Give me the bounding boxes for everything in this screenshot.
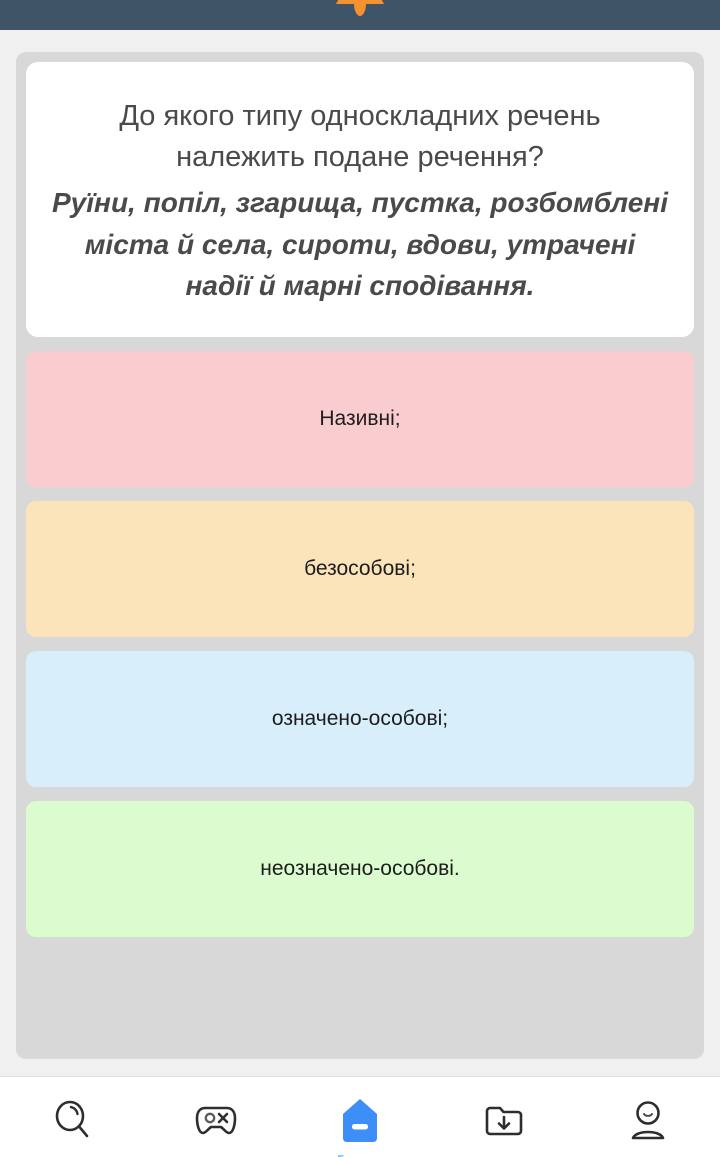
option-neoznacheno-osobovi[interactable]: неозначено-особові.: [26, 801, 694, 937]
orange-bell-logo-icon: [330, 0, 390, 22]
question-prompt: До якого типу односкладних речень належи…: [119, 100, 600, 173]
search-icon: [50, 1097, 94, 1141]
option-label: неозначено-особові.: [260, 855, 460, 882]
folder-download-icon: [482, 1097, 526, 1141]
question-card: До якого типу односкладних речень належи…: [26, 62, 694, 337]
option-nazyvni[interactable]: Називні;: [26, 351, 694, 487]
nav-item-games[interactable]: [144, 1097, 288, 1141]
nav-item-downloads[interactable]: [432, 1097, 576, 1141]
quiz-panel: До якого типу односкладних речень належи…: [16, 52, 704, 1059]
nav-item-search[interactable]: [0, 1097, 144, 1141]
top-status-bar: [0, 0, 720, 30]
option-label: безособові;: [304, 555, 416, 582]
gamepad-icon: [192, 1097, 240, 1141]
home-icon: [337, 1097, 383, 1145]
option-bezosobovi[interactable]: безособові;: [26, 501, 694, 637]
option-oznacheno-osobovi[interactable]: означено-особові;: [26, 651, 694, 787]
answer-options-list: Називні; безособові; означено-особові; н…: [26, 351, 694, 937]
option-label: Називні;: [319, 405, 400, 432]
bottom-navigation-bar: Головна: [0, 1077, 720, 1153]
nav-item-home-label: Головна: [337, 1153, 383, 1157]
profile-icon: [626, 1097, 670, 1141]
nav-item-profile[interactable]: [576, 1097, 720, 1141]
option-label: означено-особові;: [272, 705, 448, 732]
quiz-content-area: До якого типу односкладних речень належи…: [0, 30, 720, 1077]
question-quote: Руїни, попіл, згарища, пустка, розбомбле…: [52, 182, 668, 306]
nav-item-home[interactable]: Головна: [288, 1097, 432, 1145]
